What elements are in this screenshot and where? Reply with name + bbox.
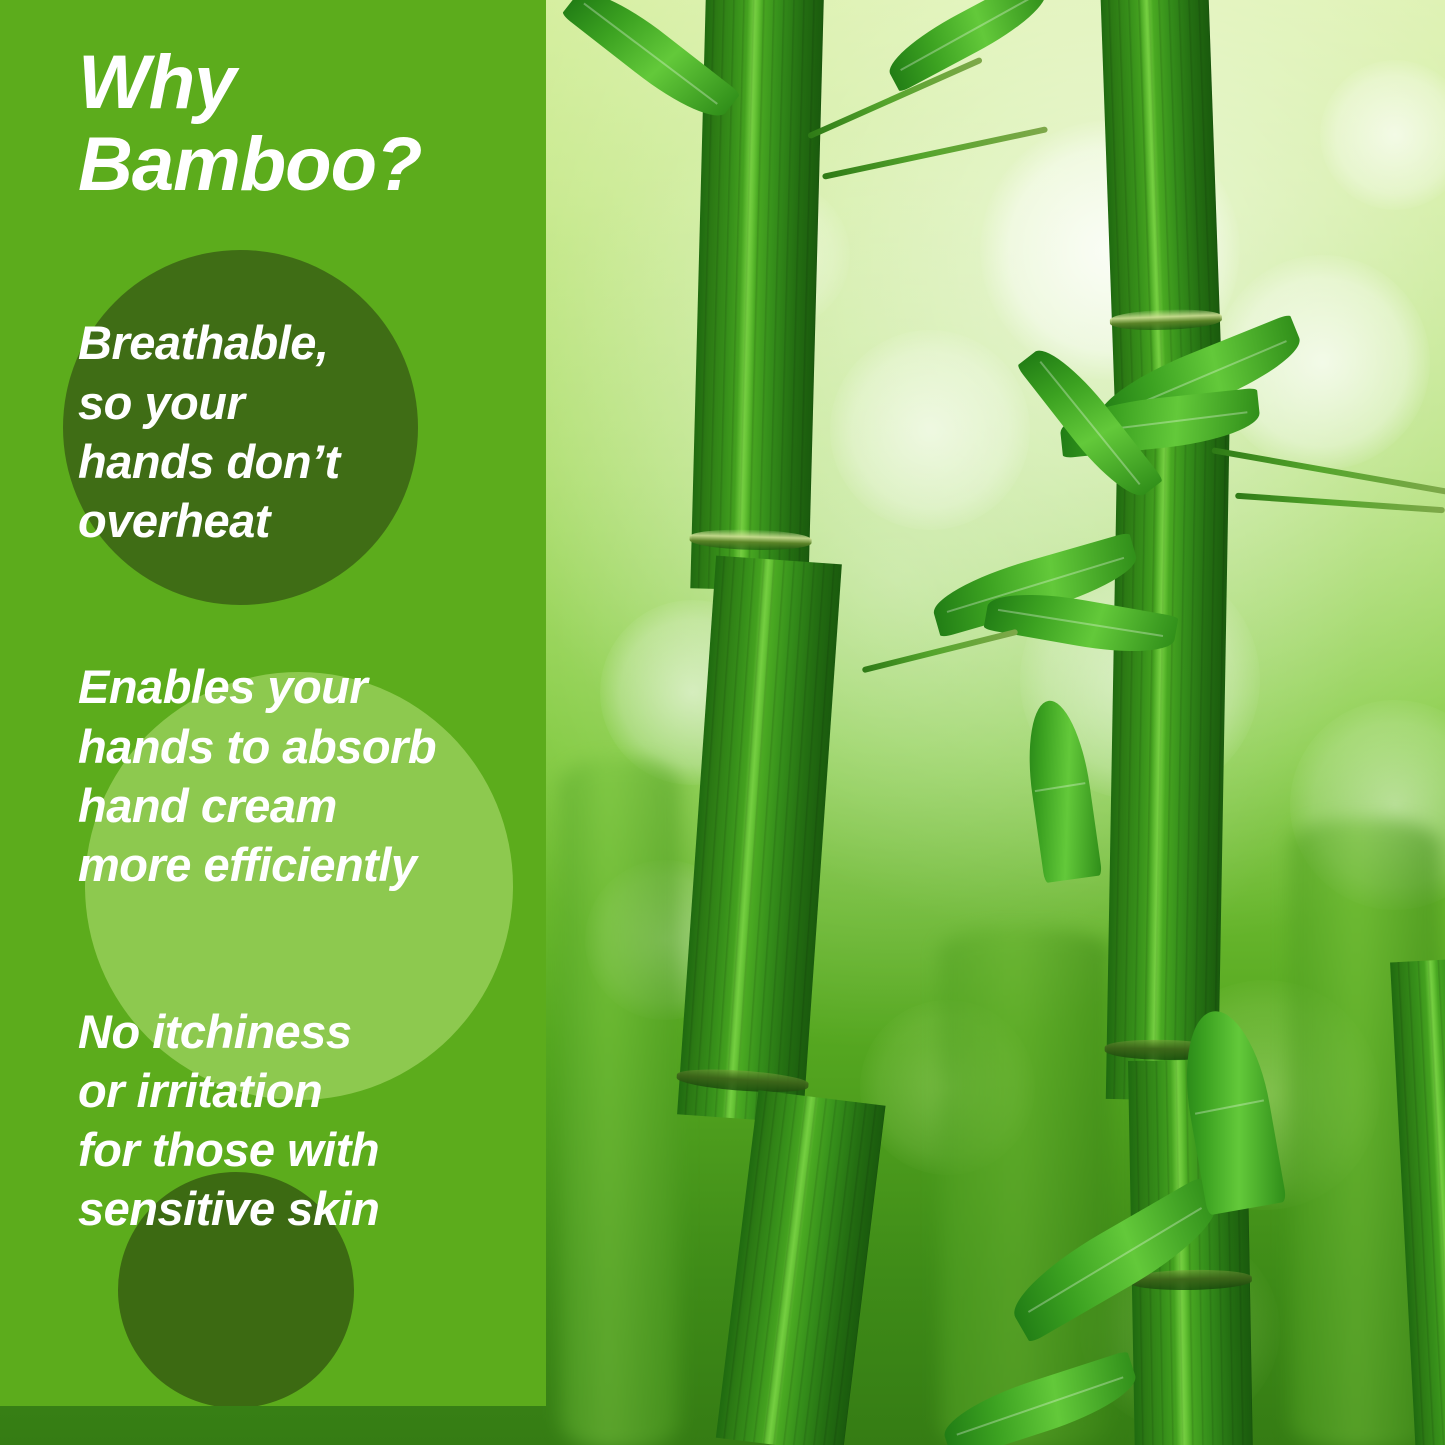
why-bamboo-poster: Why Bamboo? Breathable, so your hands do…	[0, 0, 1445, 1445]
leaf-vein	[1195, 1099, 1264, 1114]
leaf-vein	[998, 609, 1163, 637]
background-bamboo-stalk	[560, 760, 680, 1445]
benefits-panel: Why Bamboo? Breathable, so your hands do…	[0, 0, 546, 1406]
bamboo-stalk-center-lower	[1106, 399, 1230, 1101]
benefit-item-breathable: Breathable, so your hands don’t overheat	[78, 254, 516, 550]
page-title: Why Bamboo?	[78, 42, 516, 206]
benefit-text: Enables your hands to absorb hand cream …	[78, 660, 436, 891]
benefit-text: Breathable, so your hands don’t overheat	[78, 316, 340, 547]
benefit-text: No itchiness or irritation for those wit…	[78, 1005, 379, 1236]
leaf-vein	[1035, 782, 1086, 792]
panel-content: Why Bamboo? Breathable, so your hands do…	[0, 0, 546, 1406]
benefit-item-sensitive-skin: No itchiness or irritation for those wit…	[78, 942, 516, 1238]
benefit-item-absorbency: Enables your hands to absorb hand cream …	[78, 598, 516, 894]
